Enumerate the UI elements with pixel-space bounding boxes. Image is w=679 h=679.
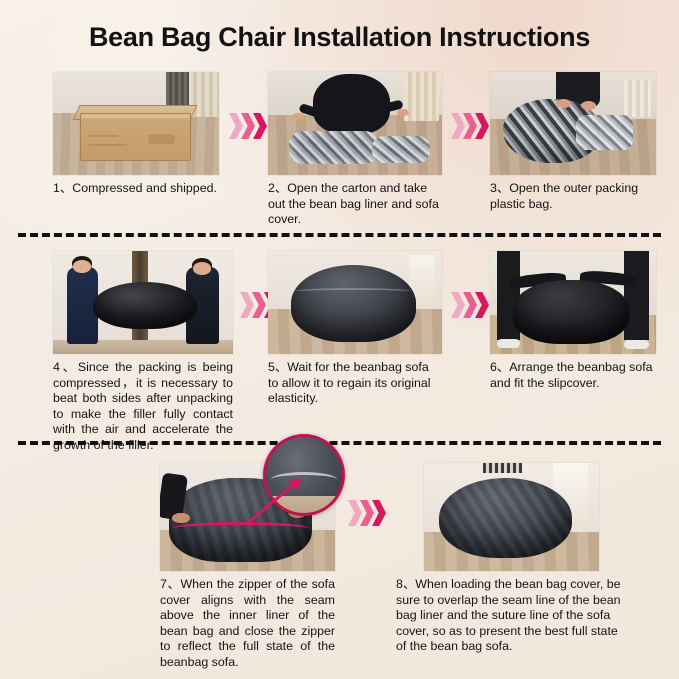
step-8-photo [424, 463, 599, 571]
step-card-1: 1、Compressed and shipped. [53, 72, 219, 197]
vacuum-bag-liner [289, 131, 379, 164]
plastic-packing-bag [576, 115, 632, 150]
scene-curtain [404, 72, 439, 121]
person-torso [313, 74, 390, 134]
step-4-caption: 4、Since the packing is being compressed，… [53, 360, 233, 453]
chevron-right-icon [241, 113, 255, 139]
worker-head [73, 260, 91, 272]
chevron-right-icon [463, 113, 477, 139]
step-6-caption: 6、Arrange the beanbag sofa and fit the s… [490, 360, 656, 391]
step-card-8: 8、When loading the bean bag cover, be su… [396, 463, 626, 655]
step-2-caption: 2、Open the carton and take out the bean … [268, 181, 442, 228]
step-6-photo [490, 251, 656, 354]
instruction-poster: Bean Bag Chair Installation Instructions… [0, 0, 679, 679]
scene-radiator [483, 463, 522, 473]
chevron-right-icon [229, 113, 243, 139]
vacuum-bag-cover [372, 136, 429, 163]
chevron-right-icon [451, 292, 465, 318]
chevron-right-icon [253, 113, 267, 139]
carton-label [89, 135, 117, 137]
shoe [497, 339, 520, 348]
step-7-caption: 7、When the zipper of the sofa cover alig… [160, 577, 335, 670]
step-3-caption: 3、Open the outer packing plastic bag. [490, 181, 656, 212]
carton-label [89, 144, 126, 146]
step-3-photo [490, 72, 656, 175]
step-2-photo [268, 72, 442, 175]
section-divider [18, 233, 661, 237]
finished-bean-bag-sofa [439, 478, 572, 558]
chevron-right-icon [348, 500, 362, 526]
carton-box [80, 113, 192, 160]
step-card-6: 6、Arrange the beanbag sofa and fit the s… [490, 251, 656, 391]
black-bean-bag [93, 282, 197, 329]
chevron-right-icon [252, 292, 266, 318]
step-4-photo [53, 251, 233, 354]
zipper-detail-callout [263, 434, 345, 516]
step-card-2: 2、Open the carton and take out the bean … [268, 72, 442, 228]
step-card-3: 3、Open the outer packing plastic bag. [490, 72, 656, 212]
chevron-right-icon [451, 113, 465, 139]
chevron-right-icon [372, 500, 386, 526]
black-bean-bag [513, 280, 629, 344]
step-8-caption: 8、When loading the bean bag cover, be su… [396, 577, 626, 655]
section-divider [18, 441, 661, 445]
scene-radiator [624, 80, 651, 117]
chevron-right-icon [475, 292, 489, 318]
person-legs-right [624, 251, 649, 340]
chevron-right-icon [360, 500, 374, 526]
step-1-caption: 1、Compressed and shipped. [53, 181, 219, 197]
step-5-photo [268, 251, 442, 354]
zipper-seam-highlight [172, 522, 309, 535]
grey-bean-bag [291, 265, 416, 341]
page-title: Bean Bag Chair Installation Instructions [0, 22, 679, 53]
chevron-right-icon [463, 292, 477, 318]
arrow-7-to-8 [348, 500, 394, 526]
chevron-right-icon [475, 113, 489, 139]
step-card-5: 5、Wait for the beanbag sofa to allow it … [268, 251, 442, 407]
step-1-photo [53, 72, 219, 175]
chevron-right-icon [240, 292, 254, 318]
worker-head [193, 262, 211, 274]
step-card-4: 4、Since the packing is being compressed，… [53, 251, 233, 453]
shoe [624, 340, 649, 349]
carton-print [148, 134, 174, 144]
step-5-caption: 5、Wait for the beanbag sofa to allow it … [268, 360, 442, 407]
